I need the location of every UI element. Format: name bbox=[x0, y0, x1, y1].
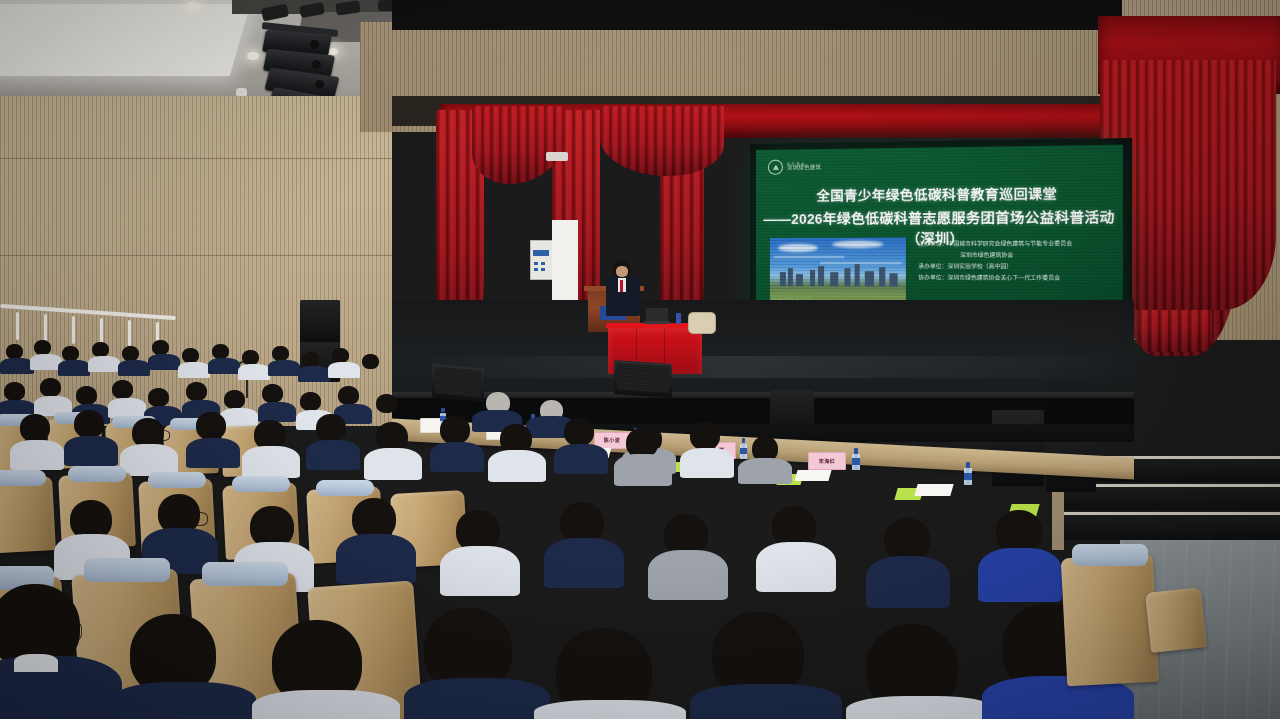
ceiling-light-panel bbox=[0, 4, 250, 76]
eyeglasses-icon bbox=[46, 618, 82, 644]
seat-far-right bbox=[1061, 554, 1160, 687]
seat-far-right-arm bbox=[1145, 587, 1207, 653]
downlight bbox=[247, 52, 259, 60]
stage-curtain-mid-left bbox=[472, 106, 564, 184]
control-panel-display bbox=[533, 250, 549, 256]
speaker-driver-icon bbox=[310, 40, 319, 49]
slide-organizers: 主办单位：中国城市科学研究会绿色建筑与节能专业委员会 深圳市绿色建筑协会 承办单… bbox=[918, 239, 1116, 285]
control-panel-button[interactable] bbox=[541, 268, 545, 271]
slide-logo: SCBA 深圳绿色建筑 bbox=[768, 159, 821, 175]
auditorium-scene: SCBA 深圳绿色建筑 全国青少年绿色低碳科普教育巡回课堂 ——2026年绿色低… bbox=[0, 0, 1280, 719]
mountain-logo-icon bbox=[768, 160, 783, 175]
stage-chair bbox=[688, 312, 716, 334]
water-bottle bbox=[852, 448, 860, 470]
name-placard: 宋海红 bbox=[808, 452, 846, 470]
wall-control-panel[interactable] bbox=[530, 240, 554, 280]
wall-seam bbox=[0, 158, 392, 159]
projector bbox=[546, 152, 568, 161]
stage-curtain-top-right bbox=[600, 106, 724, 176]
stage-monitor-speaker bbox=[614, 360, 672, 398]
audience-row-foreground bbox=[0, 560, 1130, 719]
stage-top-shadow bbox=[392, 0, 1122, 30]
laptop-base bbox=[644, 321, 670, 324]
control-panel-button[interactable] bbox=[534, 268, 538, 271]
slide-title: 全国青少年绿色低碳科普教育巡回课堂 bbox=[756, 182, 1123, 205]
control-panel-button[interactable] bbox=[541, 262, 545, 265]
stage-floor-reflection bbox=[420, 356, 1120, 378]
wall-seam bbox=[0, 255, 392, 256]
speaker-tie bbox=[620, 280, 623, 292]
logo-cn-text: 深圳绿色建筑 bbox=[787, 166, 821, 172]
water-bottle bbox=[676, 313, 681, 324]
downlight bbox=[186, 2, 200, 11]
speaker-driver-icon bbox=[315, 80, 324, 89]
stage-step bbox=[1064, 514, 1280, 540]
speaker-driver-icon bbox=[312, 60, 321, 69]
control-panel-button[interactable] bbox=[534, 262, 538, 265]
stage-monitor-speaker bbox=[432, 364, 484, 403]
seat-cushion-far-right bbox=[1072, 544, 1148, 566]
speaker-face bbox=[616, 266, 628, 277]
stage-step-nosing bbox=[1064, 512, 1280, 515]
